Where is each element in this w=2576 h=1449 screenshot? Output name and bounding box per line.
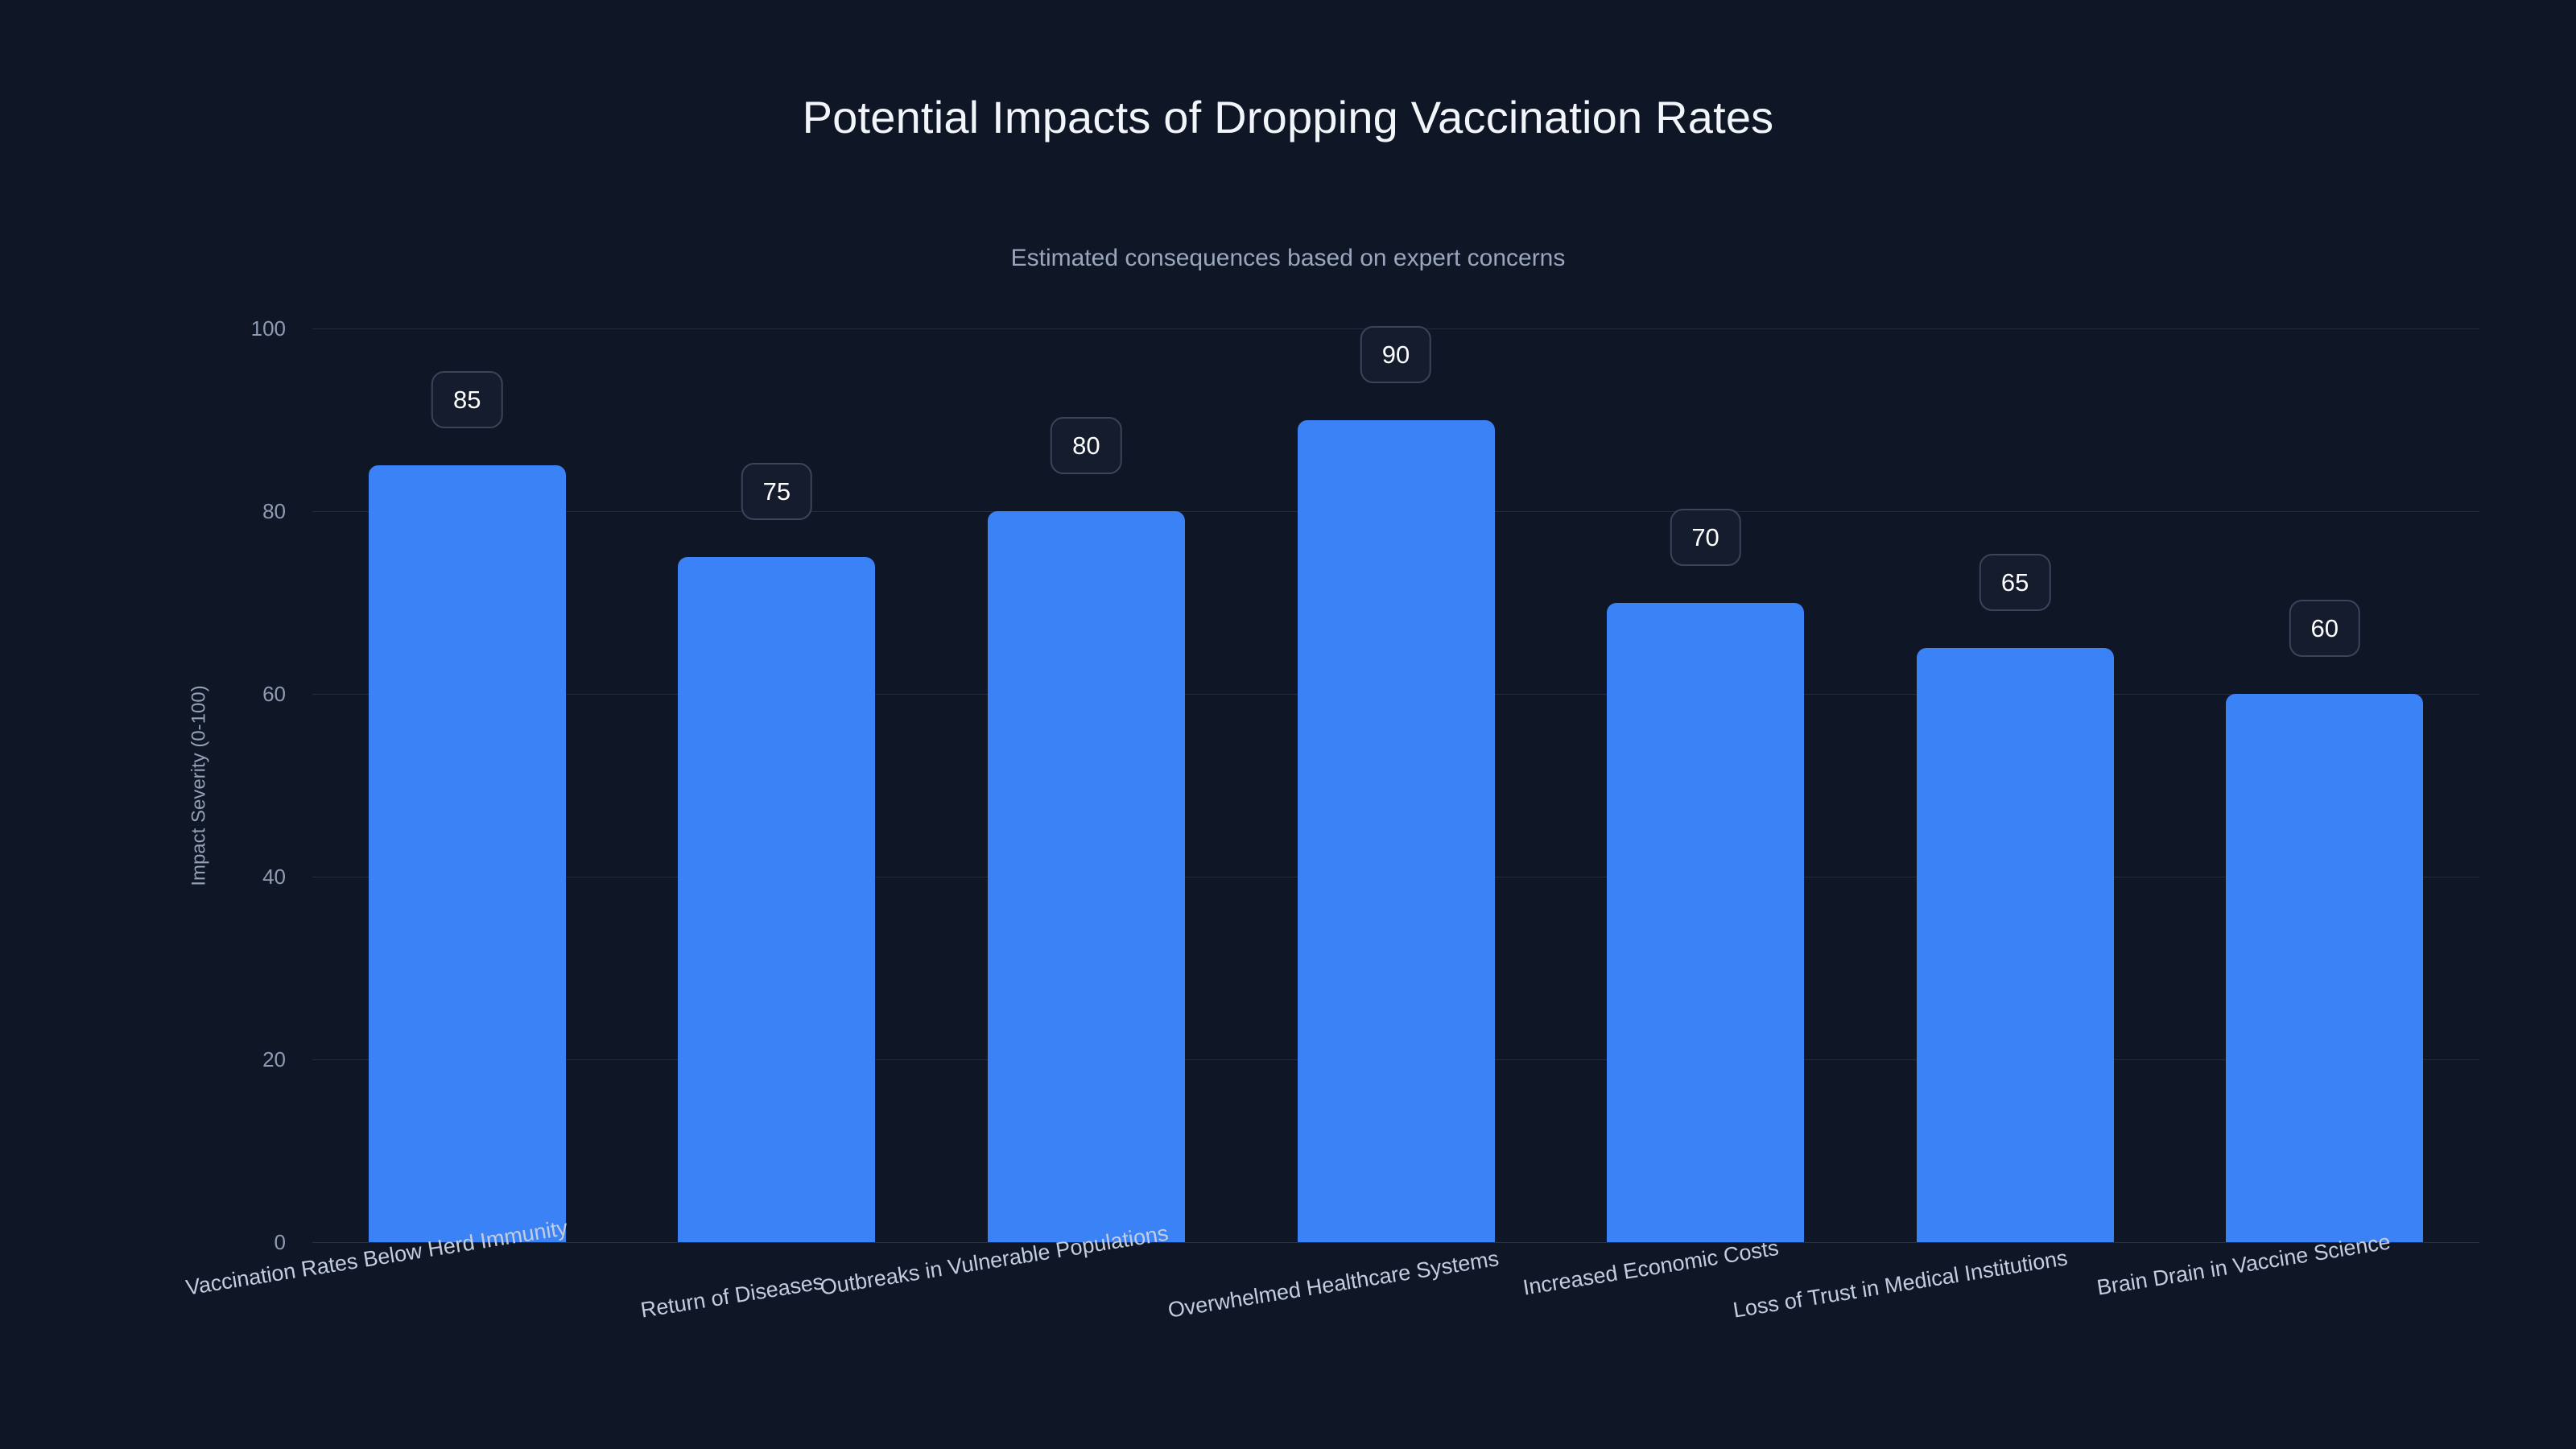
bar[interactable] — [2226, 694, 2423, 1242]
y-axis-tick-label: 60 — [125, 683, 286, 704]
bar-value-label: 65 — [1979, 554, 2050, 611]
bar-value-label: 90 — [1360, 326, 1431, 383]
bar-value-label: 60 — [2289, 600, 2359, 657]
y-axis-title-text: Impact Severity (0-100) — [188, 685, 211, 885]
y-axis-tick-label: 20 — [125, 1049, 286, 1070]
bar[interactable] — [678, 557, 875, 1242]
y-axis-title: Impact Severity (0-100) — [184, 328, 216, 1242]
y-axis-tick-label: 0 — [125, 1232, 286, 1253]
x-axis-category-label: Return of Diseases — [639, 1271, 825, 1322]
x-axis-category-label: Overwhelmed Healthcare Systems — [1166, 1248, 1501, 1322]
chart-title: Potential Impacts of Dropping Vaccinatio… — [0, 95, 2576, 140]
plot-area: 020406080100 85758090706560 — [312, 328, 2479, 1242]
chart-canvas: Potential Impacts of Dropping Vaccinatio… — [0, 0, 2576, 1449]
x-axis-category-label: Increased Economic Costs — [1521, 1237, 1780, 1299]
x-axis-category-label: Loss of Trust in Medical Institutions — [1732, 1247, 2069, 1321]
bar-value-label: 70 — [1670, 509, 1740, 566]
bar[interactable] — [1298, 420, 1495, 1243]
bar[interactable] — [369, 465, 566, 1242]
bar[interactable] — [1607, 603, 1804, 1243]
chart-subtitle: Estimated consequences based on expert c… — [0, 246, 2576, 270]
bar[interactable] — [1917, 648, 2114, 1242]
bar-value-label: 80 — [1051, 417, 1121, 474]
y-axis-tick-label: 40 — [125, 866, 286, 887]
gridline — [312, 1242, 2479, 1243]
bar-value-label: 75 — [741, 463, 812, 520]
y-axis-tick-label: 100 — [125, 318, 286, 339]
y-axis-tick-label: 80 — [125, 501, 286, 522]
bar[interactable] — [988, 511, 1185, 1242]
bar-value-label: 85 — [431, 371, 502, 428]
